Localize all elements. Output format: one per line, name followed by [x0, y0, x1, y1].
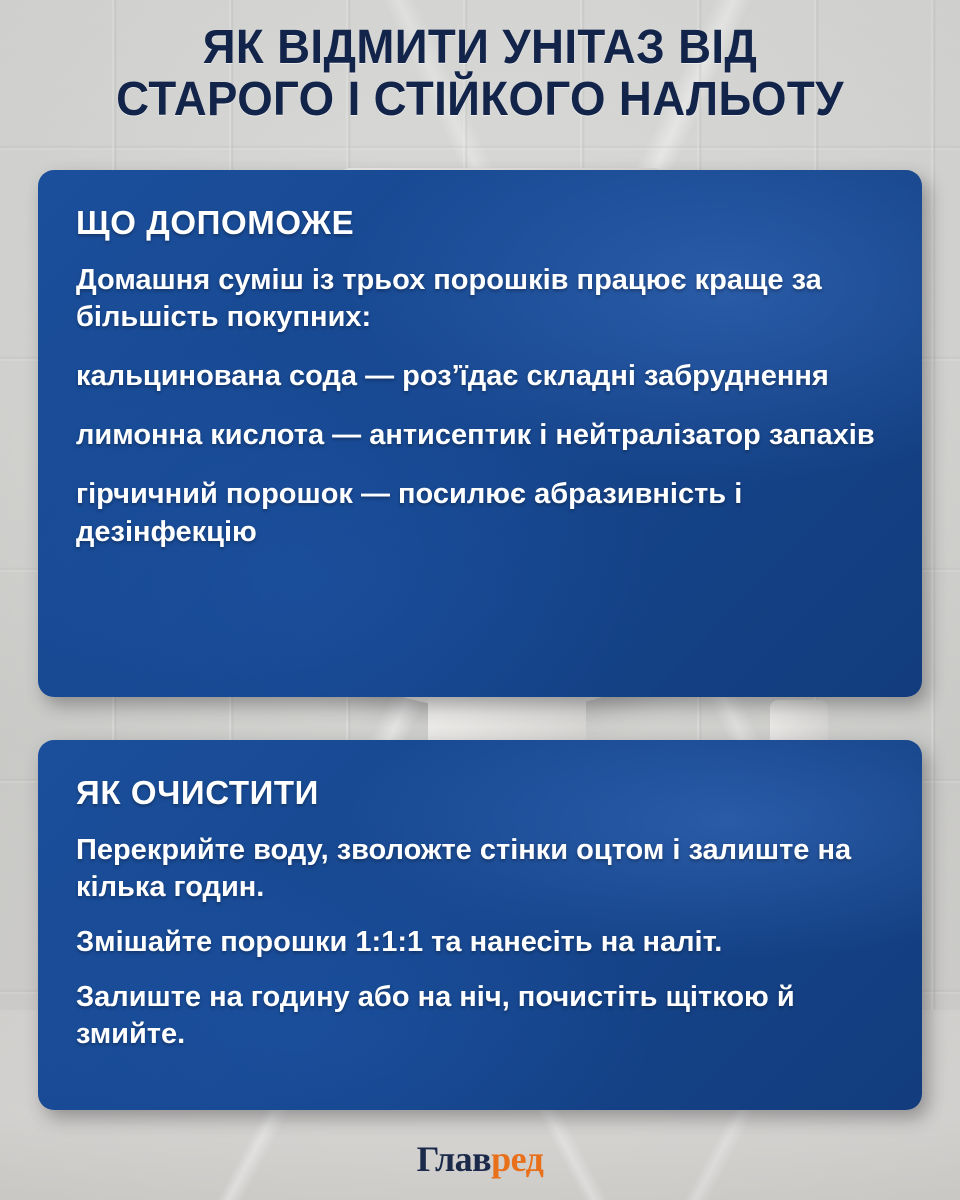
- panel-how-to-clean: ЯК ОЧИСТИТИ Перекрийте воду, зволожте ст…: [38, 740, 922, 1110]
- glavred-logo[interactable]: Главред: [0, 1138, 960, 1180]
- panel-what-helps: ЩО ДОПОМОЖЕ Домашня суміш із трьох порош…: [38, 170, 922, 697]
- infographic-poster: ЯК ВІДМИТИ УНІТАЗ ВІД СТАРОГО І СТІЙКОГО…: [0, 0, 960, 1200]
- panel-how-to-clean-heading: ЯК ОЧИСТИТИ: [76, 774, 884, 812]
- ingredient-citric-acid: лимонна кислота — антисептик і нейтраліз…: [76, 417, 884, 454]
- step-1: Перекрийте воду, зволожте стінки оцтом і…: [76, 832, 884, 906]
- ingredient-mustard-powder: гірчичний порошок — посилює абразивність…: [76, 476, 884, 550]
- page-title: ЯК ВІДМИТИ УНІТАЗ ВІД СТАРОГО І СТІЙКОГО…: [24, 22, 936, 126]
- logo-text-dark: Глав: [417, 1139, 491, 1179]
- ingredient-soda: кальцинована сода — роз’їдає складні заб…: [76, 358, 884, 395]
- logo-text-orange: ред: [491, 1139, 543, 1179]
- step-2: Змішайте порошки 1:1:1 та нанесіть на на…: [76, 924, 884, 961]
- panel-what-helps-heading: ЩО ДОПОМОЖЕ: [76, 204, 884, 242]
- step-3: Залиште на годину або на ніч, почистіть …: [76, 979, 884, 1053]
- what-helps-intro: Домашня суміш із трьох порошків працює к…: [76, 262, 884, 336]
